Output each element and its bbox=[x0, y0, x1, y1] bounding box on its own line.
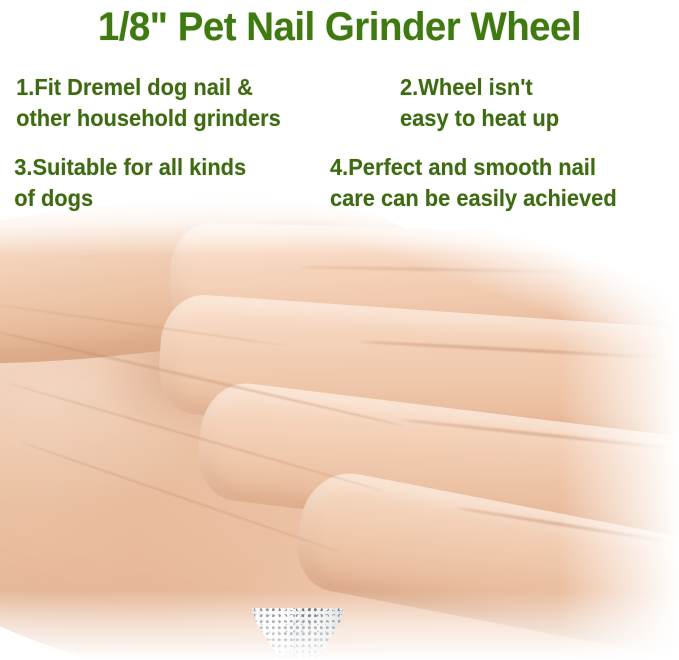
feature-3-line-2: of dogs bbox=[14, 183, 313, 214]
photo-fade-top-right bbox=[300, 196, 679, 326]
product-infographic: 1/8" Pet Nail Grinder Wheel 1.Fit Dremel… bbox=[0, 0, 679, 660]
feature-3: 3.Suitable for all kinds of dogs bbox=[0, 152, 314, 214]
feature-2: 2.Wheel isn't easy to heat up bbox=[400, 72, 665, 134]
feature-1-line-1: 1.Fit Dremel dog nail & bbox=[16, 72, 380, 103]
feature-3-line-1: 3.Suitable for all kinds bbox=[14, 152, 313, 183]
feature-row-2: 3.Suitable for all kinds of dogs 4.Perfe… bbox=[0, 152, 679, 214]
feature-row-1: 1.Fit Dremel dog nail & other household … bbox=[0, 72, 679, 134]
feature-list: 1.Fit Dremel dog nail & other household … bbox=[0, 72, 679, 214]
feature-2-line-2: easy to heat up bbox=[400, 103, 665, 134]
feature-4-line-2: care can be easily achieved bbox=[330, 183, 662, 214]
product-photo bbox=[0, 196, 679, 660]
feature-2-line-1: 2.Wheel isn't bbox=[400, 72, 665, 103]
feature-1-line-2: other household grinders bbox=[16, 103, 380, 134]
feature-4: 4.Perfect and smooth nail care can be ea… bbox=[330, 152, 662, 214]
feature-1: 1.Fit Dremel dog nail & other household … bbox=[0, 72, 380, 134]
photo-fade-bottom bbox=[0, 590, 679, 660]
feature-4-line-1: 4.Perfect and smooth nail bbox=[330, 152, 662, 183]
page-title: 1/8" Pet Nail Grinder Wheel bbox=[14, 2, 666, 52]
